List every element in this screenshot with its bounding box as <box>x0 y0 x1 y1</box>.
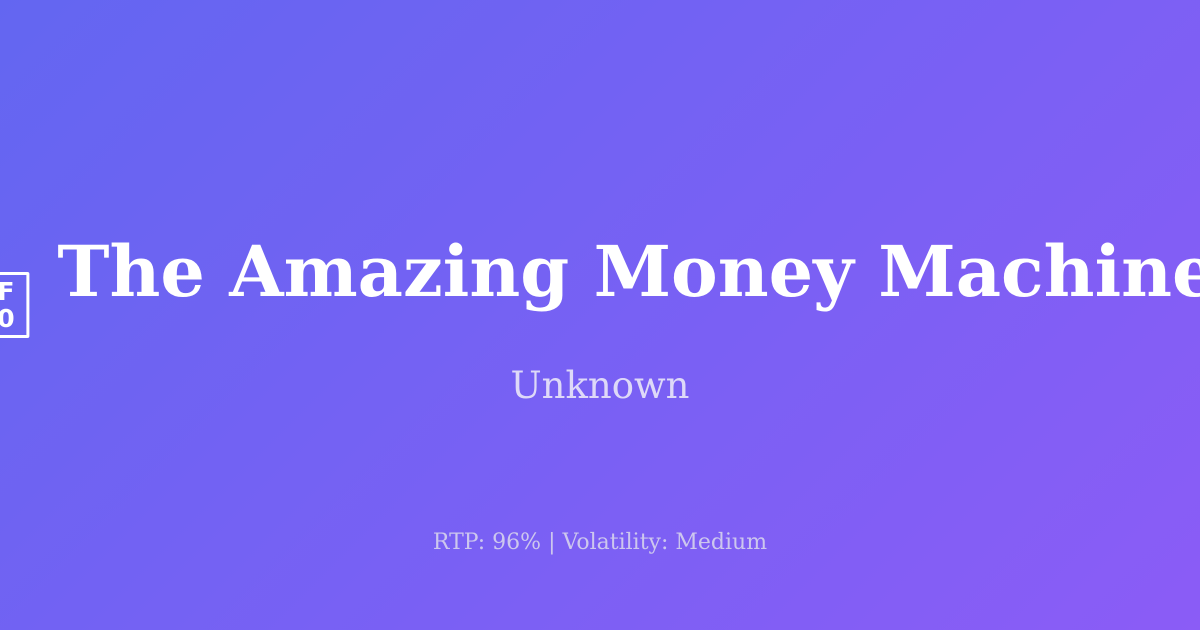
page-title-text: The Amazing Money Machine <box>57 232 1200 313</box>
page-subtitle: Unknown <box>0 363 1200 409</box>
og-card: F 0 The Amazing Money Machine Unknown RT… <box>0 0 1200 630</box>
game-meta-line: RTP: 96% | Volatility: Medium <box>0 528 1200 558</box>
money-bag-emoji-icon: F 0 <box>0 272 29 338</box>
tofu-codepoint-top: F <box>0 278 15 305</box>
tofu-codepoint-bottom: 0 <box>0 305 16 332</box>
page-title: F 0 The Amazing Money Machine <box>0 232 1200 334</box>
